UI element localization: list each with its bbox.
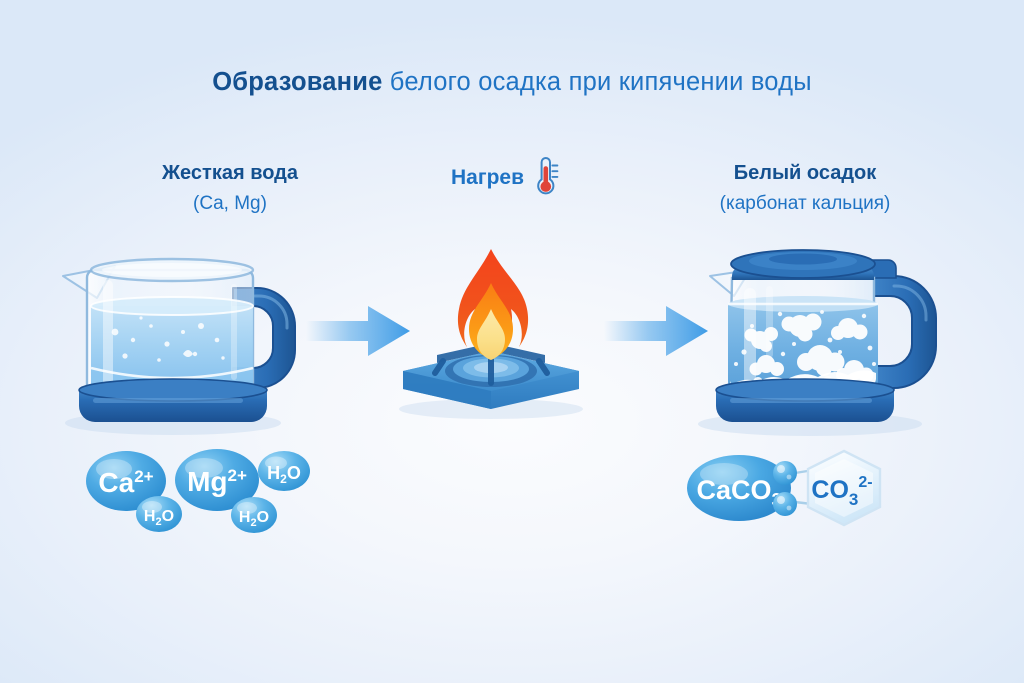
thermometer-icon: [533, 158, 559, 198]
column-label-right-line2: (карбонат кальция): [610, 191, 1000, 216]
page-title-strong: Образование: [212, 68, 382, 96]
molecule-group-hard-water-ions: Ca2+ H2O Mg2+ H2O: [78, 445, 318, 535]
svg-text:CaCO3: CaCO3: [696, 475, 781, 510]
molecule-group-calcium-carbonate: CaCO3 CO32-: [684, 443, 904, 533]
bond-bubble-bottom: [773, 492, 797, 516]
bond-bubble-top: [773, 461, 797, 485]
column-label-right: Белый осадок (карбонат кальция): [610, 160, 1000, 216]
column-label-left-line1: Жесткая вода: [35, 160, 425, 187]
water-molecule-bubble-1: H2O: [136, 496, 182, 532]
water-molecule-bubble-3: H2O: [258, 451, 310, 491]
column-label-right-line1: Белый осадок: [610, 160, 1000, 187]
glass-kettle-with-white-precipitate: [688, 236, 950, 436]
infographic-canvas: Образование белого осадка при кипячении …: [0, 0, 1024, 683]
column-label-center-line1: Нагрев: [451, 166, 524, 190]
column-label-center: Нагрев: [390, 158, 620, 198]
gas-burner-with-flame: [385, 243, 600, 423]
page-title-rest: белого осадка при кипячении воды: [383, 68, 812, 96]
page-title: Образование белого осадка при кипячении …: [0, 68, 1024, 97]
ion-carbonate-hexagon: CO32-: [808, 451, 880, 525]
column-label-left-line2: (Ca, Mg): [35, 191, 425, 216]
column-label-left: Жесткая вода (Ca, Mg): [35, 160, 425, 216]
glass-kettle-with-hard-water: [55, 240, 315, 435]
water-molecule-bubble-2: H2O: [231, 497, 277, 533]
